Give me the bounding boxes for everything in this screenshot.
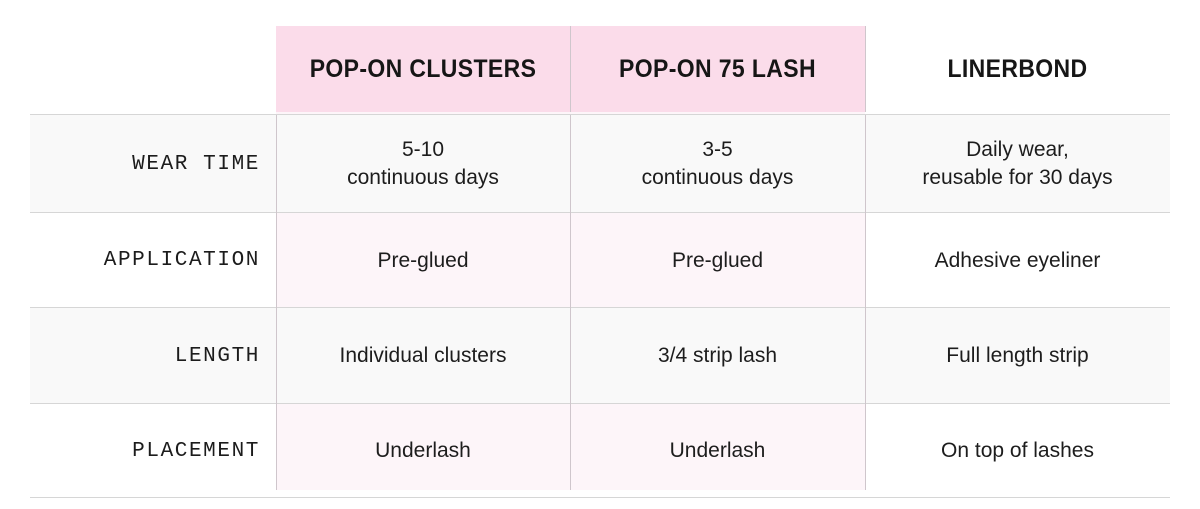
table-cell: Underlash — [570, 404, 865, 498]
cell-line: 3-5 — [642, 136, 794, 164]
cell-line: Adhesive eyeliner — [935, 247, 1101, 275]
cell-line: reusable for 30 days — [922, 164, 1112, 192]
cell-line: Pre-glued — [377, 247, 468, 275]
column-header-pop-on-75-lash: POP-ON 75 LASH — [582, 26, 853, 112]
table-cell: Adhesive eyeliner — [865, 213, 1170, 308]
row-label-placement: PLACEMENT — [30, 404, 260, 498]
column-header-linerbond: LINERBOND — [877, 26, 1158, 112]
table-cell: Individual clusters — [276, 308, 570, 404]
cell-line: continuous days — [347, 164, 499, 192]
comparison-table: POP-ON CLUSTERS POP-ON 75 LASH LINERBOND… — [0, 0, 1200, 509]
cell-line: Pre-glued — [672, 247, 763, 275]
table-cell: 3-5 continuous days — [570, 115, 865, 213]
cell-line: Daily wear, — [922, 136, 1112, 164]
table-cell: On top of lashes — [865, 404, 1170, 498]
cell-line: Underlash — [670, 437, 766, 465]
table-cell: Full length strip — [865, 308, 1170, 404]
row-label-application: APPLICATION — [30, 213, 260, 308]
cell-line: 5-10 — [347, 136, 499, 164]
table-cell: Underlash — [276, 404, 570, 498]
table-cell: 5-10 continuous days — [276, 115, 570, 213]
column-header-pop-on-clusters: POP-ON CLUSTERS — [288, 26, 558, 112]
cell-line: 3/4 strip lash — [658, 342, 777, 370]
table-cell: Daily wear, reusable for 30 days — [865, 115, 1170, 213]
cell-line: Underlash — [375, 437, 471, 465]
table-cell: 3/4 strip lash — [570, 308, 865, 404]
cell-line: On top of lashes — [941, 437, 1094, 465]
table-cell: Pre-glued — [570, 213, 865, 308]
cell-line: Full length strip — [946, 342, 1088, 370]
cell-line: Individual clusters — [340, 342, 507, 370]
table-cell: Pre-glued — [276, 213, 570, 308]
row-label-wear-time: WEAR TIME — [30, 115, 260, 213]
row-label-length: LENGTH — [30, 308, 260, 404]
cell-line: continuous days — [642, 164, 794, 192]
